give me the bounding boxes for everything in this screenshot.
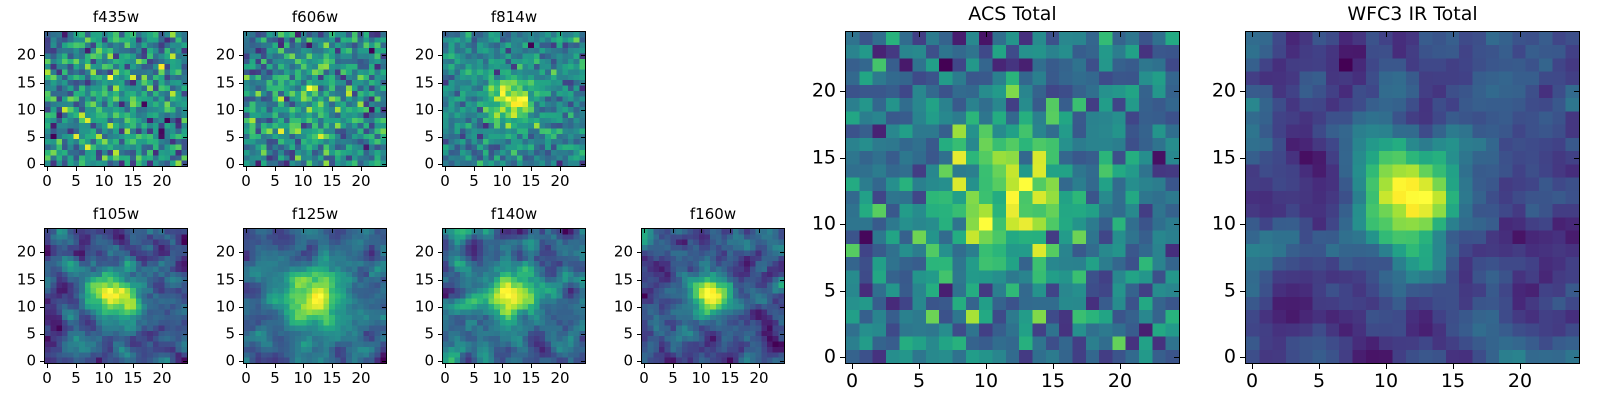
x-tick-label: 15 xyxy=(521,174,540,189)
x-tick xyxy=(531,32,532,36)
x-tick-label: 0 xyxy=(1246,372,1258,391)
y-tick xyxy=(239,307,243,308)
x-tick xyxy=(852,364,853,369)
x-tick xyxy=(162,167,163,171)
heatmap-f435w xyxy=(44,31,188,167)
y-tick xyxy=(438,252,442,253)
x-tick xyxy=(133,364,134,368)
y-tick-label: 15 xyxy=(17,76,36,91)
y-tick xyxy=(1574,357,1579,358)
panel-wfc3-ir-total: WFC3 IR Total0510152005101520 xyxy=(1245,31,1580,364)
y-tick xyxy=(1240,158,1245,159)
y-tick xyxy=(1240,291,1245,292)
x-tick xyxy=(531,229,532,233)
y-tick-label: 10 xyxy=(614,300,633,315)
x-tick-label: 5 xyxy=(913,372,925,391)
x-tick xyxy=(332,364,333,368)
y-tick xyxy=(239,280,243,281)
x-tick-label: 15 xyxy=(322,174,341,189)
x-tick xyxy=(919,364,920,369)
y-tick xyxy=(780,307,784,308)
y-tick xyxy=(239,83,243,84)
y-tick xyxy=(780,361,784,362)
y-tick xyxy=(40,334,44,335)
x-tick xyxy=(76,32,77,36)
panel-f814w: f814w0510152005101520 xyxy=(442,31,586,167)
y-tick xyxy=(1574,224,1579,225)
y-tick xyxy=(840,357,845,358)
y-tick xyxy=(840,91,845,92)
panel-title-f140w: f140w xyxy=(442,207,586,222)
x-tick xyxy=(474,364,475,368)
x-tick xyxy=(1520,32,1521,37)
x-tick xyxy=(361,32,362,36)
panel-title-f160w: f160w xyxy=(641,207,785,222)
x-tick-label: 20 xyxy=(1508,372,1532,391)
y-tick-label: 10 xyxy=(415,300,434,315)
y-tick xyxy=(382,110,386,111)
y-tick xyxy=(637,252,641,253)
x-tick-label: 10 xyxy=(492,371,511,386)
x-tick xyxy=(531,364,532,368)
y-tick xyxy=(1174,158,1179,159)
y-tick-label: 20 xyxy=(17,245,36,260)
y-tick xyxy=(239,137,243,138)
y-tick-label: 0 xyxy=(424,157,434,172)
y-tick-label: 5 xyxy=(1224,282,1236,301)
x-tick-label: 10 xyxy=(94,371,113,386)
y-tick xyxy=(1574,91,1579,92)
y-tick xyxy=(382,83,386,84)
y-tick xyxy=(239,110,243,111)
figure-canvas: f435w0510152005101520f606w05101520051015… xyxy=(0,0,1600,400)
y-tick-label: 20 xyxy=(614,245,633,260)
x-tick-label: 5 xyxy=(270,174,280,189)
x-tick xyxy=(1386,364,1387,369)
y-tick xyxy=(1240,91,1245,92)
y-tick-label: 0 xyxy=(623,354,633,369)
x-tick-label: 20 xyxy=(1108,372,1132,391)
y-tick xyxy=(581,164,585,165)
y-tick xyxy=(438,110,442,111)
x-tick-label: 5 xyxy=(469,371,479,386)
x-tick-label: 15 xyxy=(123,174,142,189)
y-tick xyxy=(840,224,845,225)
x-tick-label: 10 xyxy=(94,174,113,189)
x-tick-label: 10 xyxy=(1374,372,1398,391)
y-tick xyxy=(438,280,442,281)
y-tick xyxy=(438,137,442,138)
x-tick-label: 5 xyxy=(71,174,81,189)
x-tick xyxy=(644,364,645,368)
y-tick xyxy=(382,164,386,165)
y-tick-label: 5 xyxy=(225,130,235,145)
heatmap-f160w xyxy=(641,228,785,364)
y-tick xyxy=(438,55,442,56)
y-tick xyxy=(239,334,243,335)
y-tick xyxy=(637,280,641,281)
x-tick xyxy=(76,167,77,171)
y-tick xyxy=(1240,357,1245,358)
y-tick-label: 0 xyxy=(824,348,836,367)
y-tick-label: 0 xyxy=(26,354,36,369)
x-tick xyxy=(673,364,674,368)
x-tick xyxy=(76,229,77,233)
x-tick xyxy=(474,32,475,36)
y-tick xyxy=(382,334,386,335)
y-tick-label: 5 xyxy=(26,130,36,145)
y-tick-label: 10 xyxy=(1212,215,1236,234)
panel-f105w: f105w0510152005101520 xyxy=(44,228,188,364)
x-tick xyxy=(275,229,276,233)
y-tick xyxy=(438,164,442,165)
x-tick-label: 10 xyxy=(974,372,998,391)
y-tick xyxy=(183,55,187,56)
y-tick xyxy=(382,252,386,253)
x-tick xyxy=(104,364,105,368)
x-tick-label: 10 xyxy=(293,174,312,189)
y-tick-label: 0 xyxy=(1224,348,1236,367)
x-tick xyxy=(104,32,105,36)
x-tick xyxy=(1520,364,1521,369)
x-tick xyxy=(1386,32,1387,37)
y-tick xyxy=(382,307,386,308)
heatmap-f125w xyxy=(243,228,387,364)
y-tick-label: 15 xyxy=(17,273,36,288)
x-tick-label: 20 xyxy=(351,371,370,386)
y-tick-label: 20 xyxy=(415,245,434,260)
y-tick-label: 20 xyxy=(415,48,434,63)
x-tick-label: 15 xyxy=(720,371,739,386)
x-tick xyxy=(275,32,276,36)
panel-title-wfc3-ir-total: WFC3 IR Total xyxy=(1245,5,1580,24)
x-tick xyxy=(474,229,475,233)
x-tick-label: 0 xyxy=(241,174,251,189)
y-tick xyxy=(780,334,784,335)
y-tick-label: 15 xyxy=(614,273,633,288)
x-tick-label: 0 xyxy=(241,371,251,386)
y-tick xyxy=(40,164,44,165)
y-tick xyxy=(40,361,44,362)
x-tick xyxy=(560,364,561,368)
x-tick xyxy=(303,167,304,171)
y-tick xyxy=(239,55,243,56)
y-tick xyxy=(581,280,585,281)
x-tick xyxy=(133,167,134,171)
x-tick xyxy=(701,229,702,233)
y-tick-label: 10 xyxy=(17,300,36,315)
y-tick xyxy=(1174,357,1179,358)
y-tick xyxy=(637,307,641,308)
x-tick xyxy=(1453,32,1454,37)
x-tick-label: 5 xyxy=(71,371,81,386)
x-tick xyxy=(361,229,362,233)
x-tick xyxy=(275,364,276,368)
panel-f435w: f435w0510152005101520 xyxy=(44,31,188,167)
panel-f140w: f140w0510152005101520 xyxy=(442,228,586,364)
y-tick xyxy=(780,280,784,281)
y-tick xyxy=(1174,224,1179,225)
x-tick-label: 20 xyxy=(550,174,569,189)
x-tick xyxy=(1053,364,1054,369)
x-tick-label: 0 xyxy=(639,371,649,386)
x-tick xyxy=(1053,32,1054,37)
y-tick-label: 20 xyxy=(17,48,36,63)
x-tick xyxy=(1319,32,1320,37)
x-tick xyxy=(47,364,48,368)
y-tick xyxy=(40,137,44,138)
x-tick xyxy=(986,32,987,37)
y-tick xyxy=(183,361,187,362)
y-tick-label: 15 xyxy=(216,76,235,91)
y-tick-label: 5 xyxy=(225,327,235,342)
y-tick xyxy=(780,252,784,253)
y-tick-label: 20 xyxy=(1212,82,1236,101)
panel-title-f814w: f814w xyxy=(442,10,586,25)
y-tick xyxy=(581,137,585,138)
x-tick xyxy=(162,364,163,368)
x-tick xyxy=(759,364,760,368)
y-tick xyxy=(183,334,187,335)
x-tick xyxy=(445,32,446,36)
x-tick-label: 15 xyxy=(521,371,540,386)
y-tick xyxy=(581,334,585,335)
y-tick xyxy=(637,361,641,362)
x-tick-label: 15 xyxy=(1041,372,1065,391)
x-tick xyxy=(246,32,247,36)
x-tick xyxy=(502,229,503,233)
heatmap-wfc3-ir-total xyxy=(1245,31,1580,364)
x-tick xyxy=(560,32,561,36)
x-tick xyxy=(133,229,134,233)
x-tick xyxy=(47,229,48,233)
y-tick-label: 0 xyxy=(26,157,36,172)
y-tick-label: 5 xyxy=(824,282,836,301)
x-tick xyxy=(246,364,247,368)
x-tick-label: 0 xyxy=(42,174,52,189)
y-tick xyxy=(1174,91,1179,92)
x-tick xyxy=(1319,364,1320,369)
panel-title-f606w: f606w xyxy=(243,10,387,25)
y-tick xyxy=(438,334,442,335)
x-tick xyxy=(531,167,532,171)
x-tick-label: 20 xyxy=(152,174,171,189)
x-tick xyxy=(361,167,362,171)
y-tick xyxy=(438,307,442,308)
x-tick xyxy=(246,229,247,233)
x-tick xyxy=(275,167,276,171)
y-tick-label: 5 xyxy=(424,327,434,342)
x-tick xyxy=(730,364,731,368)
y-tick xyxy=(239,252,243,253)
x-tick-label: 0 xyxy=(846,372,858,391)
y-tick-label: 15 xyxy=(415,273,434,288)
x-tick xyxy=(502,364,503,368)
y-tick xyxy=(183,307,187,308)
x-tick xyxy=(919,32,920,37)
y-tick xyxy=(382,55,386,56)
y-tick xyxy=(40,252,44,253)
y-tick-label: 0 xyxy=(225,354,235,369)
panel-title-acs-total: ACS Total xyxy=(845,5,1180,24)
x-tick xyxy=(361,364,362,368)
x-tick xyxy=(986,364,987,369)
x-tick xyxy=(47,32,48,36)
x-tick xyxy=(560,167,561,171)
y-tick xyxy=(183,83,187,84)
y-tick xyxy=(840,291,845,292)
x-tick xyxy=(701,364,702,368)
y-tick xyxy=(183,164,187,165)
y-tick xyxy=(1174,291,1179,292)
x-tick-label: 15 xyxy=(1441,372,1465,391)
x-tick-label: 5 xyxy=(469,174,479,189)
x-tick xyxy=(1120,364,1121,369)
panel-f125w: f125w0510152005101520 xyxy=(243,228,387,364)
panel-title-f125w: f125w xyxy=(243,207,387,222)
x-tick xyxy=(445,167,446,171)
y-tick xyxy=(581,361,585,362)
y-tick-label: 20 xyxy=(812,82,836,101)
y-tick-label: 10 xyxy=(216,103,235,118)
y-tick xyxy=(438,83,442,84)
x-tick xyxy=(474,167,475,171)
y-tick xyxy=(382,280,386,281)
x-tick xyxy=(303,364,304,368)
y-tick-label: 15 xyxy=(415,76,434,91)
y-tick xyxy=(637,334,641,335)
x-tick-label: 5 xyxy=(270,371,280,386)
y-tick xyxy=(1574,291,1579,292)
x-tick xyxy=(332,32,333,36)
y-tick-label: 5 xyxy=(26,327,36,342)
heatmap-f606w xyxy=(243,31,387,167)
x-tick xyxy=(332,229,333,233)
y-tick-label: 15 xyxy=(216,273,235,288)
y-tick xyxy=(40,110,44,111)
y-tick xyxy=(183,137,187,138)
x-tick-label: 0 xyxy=(42,371,52,386)
x-tick xyxy=(644,229,645,233)
x-tick xyxy=(1252,364,1253,369)
x-tick-label: 5 xyxy=(668,371,678,386)
y-tick xyxy=(840,158,845,159)
y-tick-label: 20 xyxy=(216,245,235,260)
panel-f606w: f606w0510152005101520 xyxy=(243,31,387,167)
x-tick-label: 10 xyxy=(293,371,312,386)
x-tick xyxy=(759,229,760,233)
y-tick-label: 10 xyxy=(216,300,235,315)
panel-f160w: f160w0510152005101520 xyxy=(641,228,785,364)
x-tick-label: 15 xyxy=(123,371,142,386)
heatmap-acs-total xyxy=(845,31,1180,364)
x-tick xyxy=(1252,32,1253,37)
x-tick xyxy=(560,229,561,233)
x-tick xyxy=(162,32,163,36)
y-tick xyxy=(183,110,187,111)
y-tick-label: 5 xyxy=(623,327,633,342)
y-tick-label: 20 xyxy=(216,48,235,63)
y-tick xyxy=(183,252,187,253)
y-tick xyxy=(1574,158,1579,159)
panel-title-f435w: f435w xyxy=(44,10,188,25)
panel-acs-total: ACS Total0510152005101520 xyxy=(845,31,1180,364)
heatmap-f814w xyxy=(442,31,586,167)
x-tick xyxy=(332,167,333,171)
y-tick-label: 10 xyxy=(17,103,36,118)
x-tick xyxy=(1453,364,1454,369)
x-tick xyxy=(445,229,446,233)
x-tick xyxy=(303,229,304,233)
x-tick xyxy=(246,167,247,171)
y-tick-label: 10 xyxy=(415,103,434,118)
x-tick xyxy=(76,364,77,368)
x-tick-label: 20 xyxy=(351,174,370,189)
x-tick-label: 20 xyxy=(749,371,768,386)
x-tick xyxy=(133,32,134,36)
heatmap-f140w xyxy=(442,228,586,364)
x-tick xyxy=(104,229,105,233)
x-tick-label: 5 xyxy=(1313,372,1325,391)
x-tick xyxy=(852,32,853,37)
x-tick-label: 0 xyxy=(440,371,450,386)
x-tick xyxy=(104,167,105,171)
y-tick xyxy=(40,83,44,84)
x-tick-label: 20 xyxy=(550,371,569,386)
heatmap-f105w xyxy=(44,228,188,364)
x-tick-label: 20 xyxy=(152,371,171,386)
y-tick xyxy=(581,110,585,111)
y-tick xyxy=(40,307,44,308)
y-tick xyxy=(183,280,187,281)
y-tick xyxy=(239,361,243,362)
x-tick xyxy=(445,364,446,368)
y-tick xyxy=(581,55,585,56)
y-tick xyxy=(40,55,44,56)
y-tick-label: 15 xyxy=(1212,149,1236,168)
y-tick-label: 15 xyxy=(812,149,836,168)
x-tick-label: 15 xyxy=(322,371,341,386)
y-tick xyxy=(382,361,386,362)
y-tick xyxy=(581,307,585,308)
x-tick xyxy=(673,229,674,233)
panel-title-f105w: f105w xyxy=(44,207,188,222)
y-tick xyxy=(438,361,442,362)
y-tick xyxy=(40,280,44,281)
x-tick xyxy=(1120,32,1121,37)
x-tick-label: 10 xyxy=(691,371,710,386)
y-tick-label: 0 xyxy=(424,354,434,369)
x-tick-label: 0 xyxy=(440,174,450,189)
y-tick-label: 10 xyxy=(812,215,836,234)
y-tick xyxy=(239,164,243,165)
x-tick xyxy=(303,32,304,36)
x-tick xyxy=(502,167,503,171)
y-tick-label: 5 xyxy=(424,130,434,145)
x-tick xyxy=(47,167,48,171)
y-tick xyxy=(382,137,386,138)
x-tick xyxy=(730,229,731,233)
x-tick xyxy=(502,32,503,36)
y-tick xyxy=(1240,224,1245,225)
x-tick-label: 10 xyxy=(492,174,511,189)
x-tick xyxy=(162,229,163,233)
y-tick xyxy=(581,252,585,253)
y-tick-label: 0 xyxy=(225,157,235,172)
y-tick xyxy=(581,83,585,84)
